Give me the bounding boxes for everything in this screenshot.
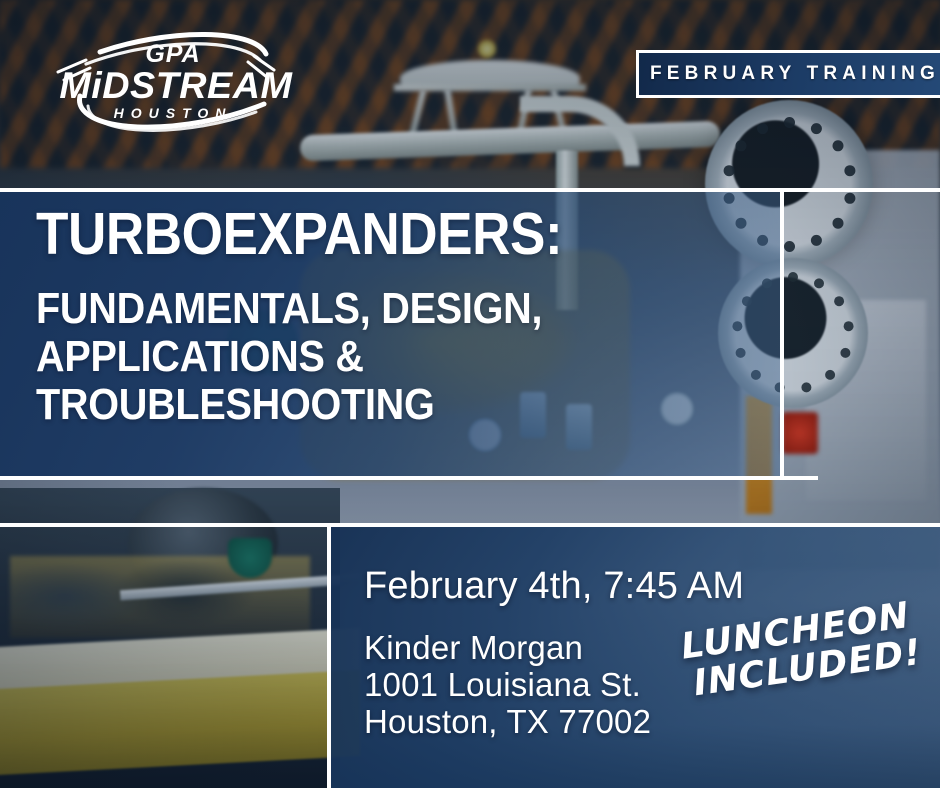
- title-block: TURBOEXPANDERS: FUNDAMENTALS, DESIGN, AP…: [36, 206, 756, 428]
- logo-midstream-text: MiDSTREAM: [59, 64, 292, 106]
- event-datetime: February 4th, 7:45 AM: [364, 565, 744, 608]
- event-address: Kinder Morgan 1001 Louisiana St. Houston…: [364, 630, 651, 741]
- course-title: TURBOEXPANDERS:: [36, 206, 684, 263]
- course-subtitle-line-1: FUNDAMENTALS, DESIGN,: [36, 285, 684, 333]
- course-subtitle: FUNDAMENTALS, DESIGN, APPLICATIONS & TRO…: [36, 285, 684, 429]
- event-city-state-zip: Houston, TX 77002: [364, 704, 651, 741]
- event-street: 1001 Louisiana St.: [364, 667, 651, 704]
- badge-label: FEBRUARY TRAINING: [650, 63, 940, 85]
- divider-rule-top-right: [784, 188, 940, 192]
- course-subtitle-line-2: APPLICATIONS &: [36, 333, 684, 381]
- event-venue: Kinder Morgan: [364, 630, 651, 667]
- course-subtitle-line-3: TROUBLESHOOTING: [36, 381, 684, 429]
- gpa-midstream-houston-logo: GPA MiDSTREAM HOUSTON: [28, 26, 318, 144]
- february-training-badge: FEBRUARY TRAINING: [636, 50, 940, 98]
- event-poster: GPA MiDSTREAM HOUSTON FEBRUARY TRAINING …: [0, 0, 940, 788]
- logo-houston-text: HOUSTON: [114, 105, 233, 121]
- divider-rule-bottom-left: [0, 523, 327, 527]
- divider-rule-mid-right: [784, 476, 818, 480]
